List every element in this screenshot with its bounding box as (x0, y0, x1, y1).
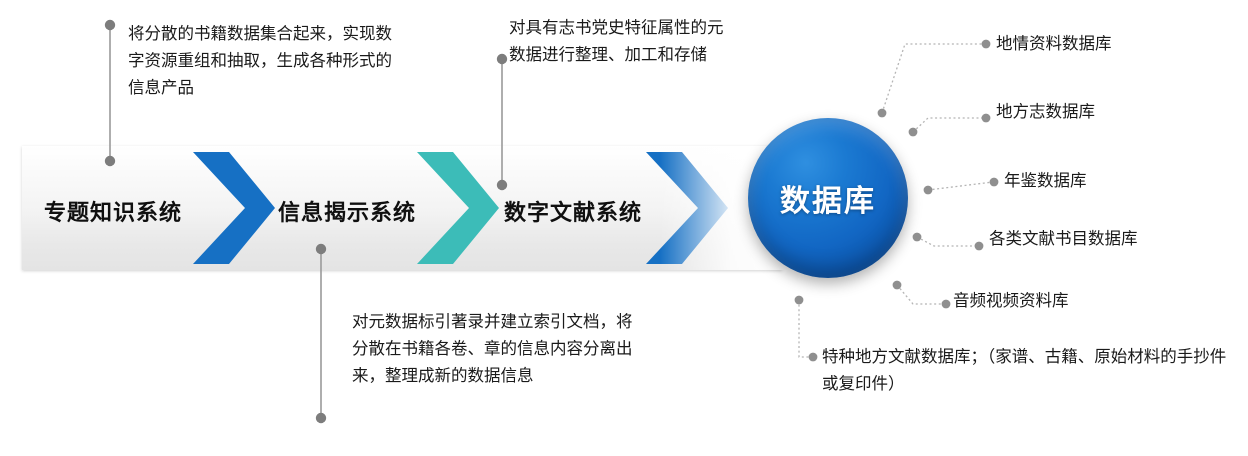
db-item-label-3: 年鉴数据库 (1004, 168, 1087, 194)
db-item-label-5: 音频视频资料库 (953, 288, 1069, 314)
chevron-arrow-3 (638, 146, 728, 270)
stage-label-3: 数字文献系统 (504, 195, 642, 227)
callout-text-stage3: 对具有志书党史特征属性的元数据进行整理、加工和存储 (509, 14, 737, 68)
stage-label-2: 信息揭示系统 (278, 195, 416, 227)
diagram-canvas: 专题知识系统 信息揭示系统 数字文献系统 数据库 (0, 0, 1248, 456)
db-item-label-4: 各类文献书目数据库 (989, 226, 1138, 252)
callout-text-stage2: 对元数据标引著录并建立索引文档，将分散在书籍各卷、章的信息内容分离出来，整理成新… (352, 308, 642, 389)
chevron-arrow-2 (409, 146, 499, 270)
callout-text-stage1: 将分散的书籍数据集合起来，实现数字资源重组和抽取，生成各种形式的信息产品 (128, 20, 408, 101)
chevron-arrow-1 (185, 146, 275, 270)
db-item-label-6: 特种地方文献数据库；（家谱、古籍、原始材料的手抄件或复印件） (822, 343, 1234, 397)
sphere-label: 数据库 (746, 116, 910, 280)
db-item-label-2: 地方志数据库 (996, 99, 1095, 125)
database-sphere: 数据库 (746, 116, 912, 282)
db-item-label-1: 地情资料数据库 (996, 31, 1112, 57)
stage-label-1: 专题知识系统 (44, 195, 182, 227)
